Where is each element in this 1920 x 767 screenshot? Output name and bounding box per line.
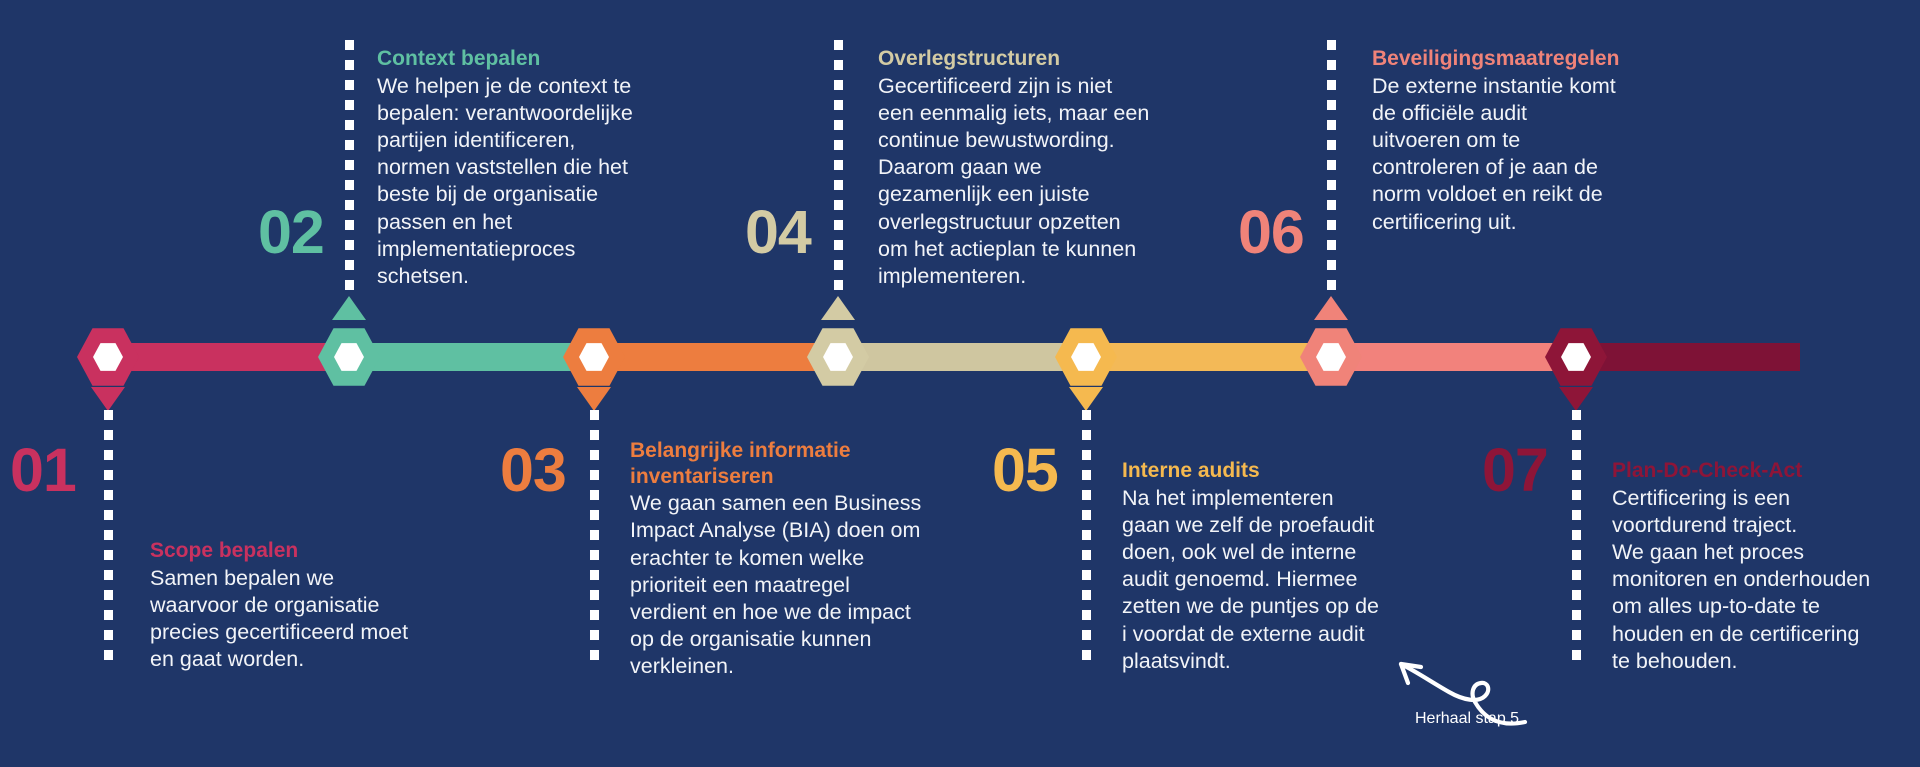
dotted-leader-02 xyxy=(345,40,354,296)
dotted-leader-04 xyxy=(834,40,843,296)
dotted-leader-03 xyxy=(590,410,599,670)
dotted-leader-06 xyxy=(1327,40,1336,296)
step-body-04: Gecertificeerd zijn is niet een eenmalig… xyxy=(878,73,1178,291)
step-text-block-05: Interne auditsNa het implementeren gaan … xyxy=(1122,458,1422,675)
pointer-triangle-02 xyxy=(332,296,366,320)
step-number-05: 05 xyxy=(992,440,1058,501)
step-text-block-06: BeveiligingsmaatregelenDe externe instan… xyxy=(1372,46,1672,236)
step-number-01: 01 xyxy=(10,440,76,501)
dotted-leader-05 xyxy=(1082,410,1091,670)
step-text-block-03: Belangrijke informatie inventariserenWe … xyxy=(630,438,950,681)
pointer-triangle-01 xyxy=(91,387,125,411)
timeline-node-06[interactable] xyxy=(1300,327,1362,387)
step-title-07: Plan-Do-Check-Act xyxy=(1612,458,1920,484)
step-title-06: Beveiligingsmaatregelen xyxy=(1372,46,1672,72)
step-body-05: Na het implementeren gaan we zelf de pro… xyxy=(1122,485,1422,675)
step-title-03: Belangrijke informatie inventariseren xyxy=(630,438,950,489)
timeline-segment-02 xyxy=(349,343,594,371)
step-body-03: We gaan samen een Business Impact Analys… xyxy=(630,490,950,680)
timeline-infographic: 01Scope bepalenSamen bepalen we waarvoor… xyxy=(0,0,1920,767)
step-text-block-02: Context bepalenWe helpen je de context t… xyxy=(377,46,677,290)
pointer-triangle-05 xyxy=(1069,387,1103,411)
timeline-segment-03 xyxy=(594,343,838,371)
step-title-04: Overlegstructuren xyxy=(878,46,1178,72)
timeline-segment-06 xyxy=(1331,343,1576,371)
timeline-segment-01 xyxy=(108,343,349,371)
timeline-node-04[interactable] xyxy=(807,327,869,387)
step-title-05: Interne audits xyxy=(1122,458,1422,484)
pointer-triangle-03 xyxy=(577,387,611,411)
step-body-02: We helpen je de context te bepalen: vera… xyxy=(377,73,677,291)
pointer-triangle-04 xyxy=(821,296,855,320)
timeline-segment-04 xyxy=(838,343,1086,371)
step-text-block-07: Plan-Do-Check-ActCertificering is een vo… xyxy=(1612,458,1920,675)
timeline-node-03[interactable] xyxy=(563,327,625,387)
timeline-node-07[interactable] xyxy=(1545,327,1607,387)
step-number-07: 07 xyxy=(1482,440,1548,501)
step-number-02: 02 xyxy=(258,202,324,263)
step-title-02: Context bepalen xyxy=(377,46,677,72)
timeline-node-05[interactable] xyxy=(1055,327,1117,387)
pointer-triangle-06 xyxy=(1314,296,1348,320)
step-body-07: Certificering is een voortdurend traject… xyxy=(1612,485,1920,675)
dotted-leader-01 xyxy=(104,410,113,670)
step-title-01: Scope bepalen xyxy=(150,538,480,564)
dotted-leader-07 xyxy=(1572,410,1581,670)
timeline-segment-05 xyxy=(1086,343,1331,371)
step-body-06: De externe instantie komt de officiële a… xyxy=(1372,73,1672,236)
step-text-block-04: OverlegstructurenGecertificeerd zijn is … xyxy=(878,46,1178,290)
timeline-node-01[interactable] xyxy=(77,327,139,387)
annotation-label: Herhaal stap 5 xyxy=(1415,710,1519,728)
step-text-block-01: Scope bepalenSamen bepalen we waarvoor d… xyxy=(150,538,480,673)
timeline-segment-07 xyxy=(1576,343,1800,371)
step-number-04: 04 xyxy=(745,202,811,263)
step-number-03: 03 xyxy=(500,440,566,501)
timeline-node-02[interactable] xyxy=(318,327,380,387)
step-number-06: 06 xyxy=(1238,202,1304,263)
pointer-triangle-07 xyxy=(1559,387,1593,411)
step-body-01: Samen bepalen we waarvoor de organisatie… xyxy=(150,565,480,674)
